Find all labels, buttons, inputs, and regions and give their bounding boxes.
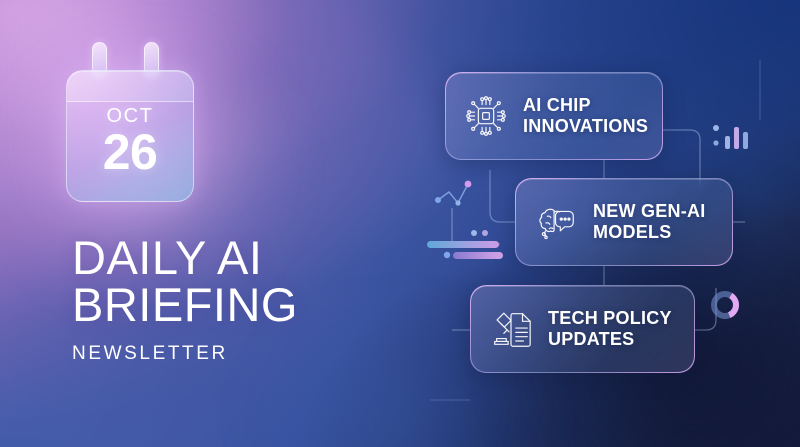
headline-block: DAILY AI BRIEFING NEWSLETTER — [72, 235, 402, 365]
card2-label-line-2: MODELS — [593, 222, 706, 243]
poster-canvas: OCT 26 DAILY AI BRIEFING NEWSLETTER — [0, 0, 800, 447]
bar-chart-mini — [712, 118, 754, 154]
calendar-header-strip — [67, 71, 193, 102]
card1-label-line-2: INNOVATIONS — [523, 116, 648, 137]
title-line-2: BRIEFING — [72, 282, 402, 329]
calendar-icon: OCT 26 — [66, 70, 194, 202]
topic-card-ai-chip-innovations[interactable]: AI CHIP INNOVATIONS — [445, 72, 663, 160]
card3-label-line-2: UPDATES — [548, 329, 672, 350]
calendar-block: OCT 26 — [66, 52, 194, 202]
page-title: DAILY AI BRIEFING — [72, 235, 402, 328]
brain-chat-icon — [533, 199, 579, 245]
topic-card-label: NEW GEN-AI MODELS — [593, 201, 706, 243]
card2-label-line-1: NEW GEN-AI — [593, 201, 706, 222]
topic-card-label: AI CHIP INNOVATIONS — [523, 95, 648, 137]
microchip-icon — [463, 93, 509, 139]
title-line-1: DAILY AI — [72, 231, 262, 284]
topic-card-tech-policy-updates[interactable]: TECH POLICY UPDATES — [470, 285, 695, 373]
gavel-document-icon — [488, 306, 534, 352]
progress-pill-bars — [427, 228, 515, 264]
card1-label-line-1: AI CHIP — [523, 95, 648, 116]
card3-label-line-1: TECH POLICY — [548, 308, 672, 329]
donut-chart-mini — [708, 288, 742, 322]
topic-card-label: TECH POLICY UPDATES — [548, 308, 672, 350]
topic-card-new-gen-ai-models[interactable]: NEW GEN-AI MODELS — [515, 178, 733, 266]
page-subtitle: NEWSLETTER — [72, 343, 402, 365]
line-chart-spark — [434, 178, 486, 212]
calendar-day: 26 — [67, 127, 193, 177]
